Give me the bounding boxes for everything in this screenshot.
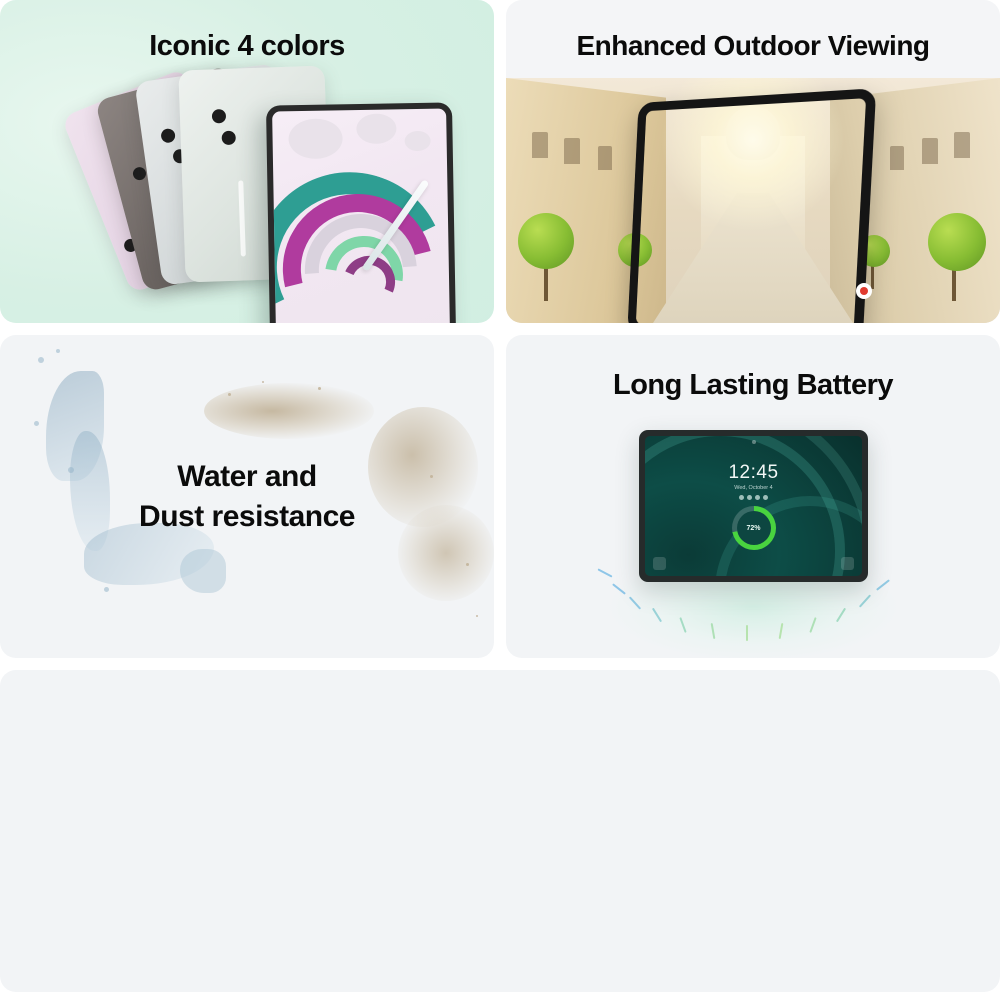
panel-water-dust-resistance: Water and Dust resistance bbox=[0, 335, 494, 658]
water-droplet bbox=[104, 587, 109, 592]
status-dot-icon bbox=[747, 495, 752, 500]
panel-title-water-line1: Water and bbox=[0, 457, 494, 497]
window bbox=[564, 138, 580, 164]
feature-grid-page: Iconic 4 colors bbox=[0, 0, 1000, 1000]
panel-creative-apps: Limeade Recipe Limeade Recipe bbox=[0, 670, 1000, 992]
lockscreen-date: Wed, October 4 bbox=[645, 485, 862, 491]
panel-long-lasting-battery: Long Lasting Battery 12:45 Wed, October … bbox=[506, 335, 1000, 658]
battery-ring-inner: 72% bbox=[737, 511, 771, 545]
dust-particle bbox=[466, 563, 469, 566]
panel-title-water-line2: Dust resistance bbox=[0, 497, 494, 537]
water-droplet bbox=[38, 357, 44, 363]
window bbox=[532, 132, 548, 158]
tablet-screen-wave-art bbox=[272, 108, 450, 323]
water-droplet bbox=[56, 349, 60, 353]
dust-particle bbox=[228, 393, 231, 396]
tablet-front-device bbox=[266, 102, 456, 323]
window bbox=[598, 146, 612, 170]
window bbox=[890, 146, 904, 170]
camera-lens-icon bbox=[160, 128, 176, 144]
front-camera-icon bbox=[752, 440, 756, 444]
radial-tick bbox=[746, 625, 748, 641]
camera-lens-icon bbox=[212, 109, 226, 123]
water-droplet bbox=[34, 421, 39, 426]
splash-shape bbox=[356, 113, 397, 144]
tree-foliage bbox=[518, 213, 574, 269]
lockscreen-status-icons bbox=[645, 495, 862, 500]
water-splash-shape bbox=[180, 549, 226, 593]
splash-shape bbox=[404, 131, 430, 151]
dust-particle bbox=[476, 615, 478, 617]
record-indicator-icon bbox=[856, 283, 872, 299]
panel-title-outdoor-viewing: Enhanced Outdoor Viewing bbox=[506, 30, 1000, 62]
dust-particle bbox=[262, 381, 264, 383]
lockscreen-shortcut-right[interactable] bbox=[841, 557, 854, 570]
battery-percent-label: 72% bbox=[746, 525, 760, 532]
status-dot-icon bbox=[739, 495, 744, 500]
s-pen-slot bbox=[238, 180, 246, 256]
window bbox=[922, 138, 938, 164]
street-scene-photo bbox=[506, 78, 1000, 323]
dust-cloud bbox=[204, 383, 374, 439]
radial-tick bbox=[597, 568, 612, 577]
panel-title-iconic-colors: Iconic 4 colors bbox=[0, 30, 494, 63]
window bbox=[954, 132, 970, 158]
splash-shape bbox=[288, 118, 343, 159]
panel-iconic-colors: Iconic 4 colors bbox=[0, 0, 494, 323]
panel-title-water-dust: Water and Dust resistance bbox=[0, 457, 494, 537]
status-dot-icon bbox=[763, 495, 768, 500]
battery-ring-indicator: 72% bbox=[732, 506, 776, 550]
camera-lens-icon bbox=[221, 131, 235, 145]
panel-title-battery: Long Lasting Battery bbox=[506, 369, 1000, 402]
dust-particle bbox=[318, 387, 321, 390]
panel-outdoor-viewing: Enhanced Outdoor Viewing bbox=[506, 0, 1000, 323]
camera-lens-icon bbox=[132, 166, 148, 182]
tablet-device-battery: 12:45 Wed, October 4 72% bbox=[639, 430, 868, 582]
lockscreen-clock: 12:45 bbox=[645, 462, 862, 484]
lockscreen-shortcut-left[interactable] bbox=[653, 557, 666, 570]
tablet-outline-overlay bbox=[627, 88, 876, 323]
tablet-lockscreen: 12:45 Wed, October 4 72% bbox=[645, 436, 862, 576]
tree-foliage bbox=[928, 213, 986, 271]
status-dot-icon bbox=[755, 495, 760, 500]
